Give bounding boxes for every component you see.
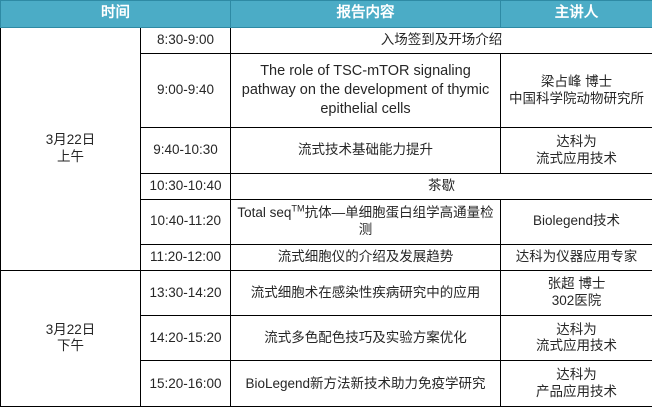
session-date: 3月22日	[46, 322, 96, 337]
row-content: Total seqTM抗体—单细胞蛋白组学高通量检测	[231, 199, 501, 244]
column-header-time: 时间	[1, 1, 231, 28]
row-time: 8:30-9:00	[141, 28, 231, 54]
row-speaker: 达科为 流式应用技术	[501, 128, 652, 173]
row-content: 入场签到及开场介绍	[231, 28, 652, 54]
row-content: 茶歇	[231, 173, 652, 199]
speaker-name: 达科为	[556, 367, 597, 382]
row-content: BioLegend新方法新技术助力免疫学研究	[231, 361, 501, 407]
column-header-speaker: 主讲人	[501, 1, 652, 28]
speaker-name: Biolegend技术	[533, 213, 620, 228]
row-content: 流式多色配色技巧及实验方案优化	[231, 316, 501, 361]
speaker-name: 达科为仪器应用专家	[516, 249, 638, 264]
session-period: 上午	[4, 149, 137, 165]
agenda-table: 时间 报告内容 主讲人 3月22日 上午 8:30-9:00 入场签到及开场介绍…	[0, 0, 652, 407]
row-time: 11:20-12:00	[141, 244, 231, 270]
speaker-affiliation: 302医院	[504, 293, 649, 309]
row-speaker: 达科为 产品应用技术	[501, 361, 652, 407]
session-label-afternoon: 3月22日 下午	[1, 270, 141, 406]
row-content-suffix: 抗体—单细胞蛋白组学高通量检测	[305, 205, 494, 236]
row-time: 9:00-9:40	[141, 53, 231, 128]
row-time: 9:40-10:30	[141, 128, 231, 173]
speaker-affiliation: 中国科学院动物研究所	[504, 91, 649, 107]
row-speaker: Biolegend技术	[501, 199, 652, 244]
session-label-morning: 3月22日 上午	[1, 28, 141, 271]
speaker-affiliation: 流式应用技术	[504, 338, 649, 354]
row-speaker: 梁占峰 博士 中国科学院动物研究所	[501, 53, 652, 128]
speaker-affiliation: 产品应用技术	[504, 384, 649, 400]
session-period: 下午	[4, 338, 137, 354]
row-time: 10:40-11:20	[141, 199, 231, 244]
column-header-content: 报告内容	[231, 1, 501, 28]
row-content-prefix: Total seq	[237, 205, 291, 220]
row-speaker: 达科为 流式应用技术	[501, 316, 652, 361]
session-date: 3月22日	[46, 132, 96, 147]
row-content: 流式技术基础能力提升	[231, 128, 501, 173]
row-time: 13:30-14:20	[141, 270, 231, 315]
row-time: 15:20-16:00	[141, 361, 231, 407]
table-row: 3月22日 下午 13:30-14:20 流式细胞术在感染性疾病研究中的应用 张…	[1, 270, 652, 315]
row-time: 10:30-10:40	[141, 173, 231, 199]
table-row: 3月22日 上午 8:30-9:00 入场签到及开场介绍	[1, 28, 652, 54]
row-speaker: 达科为仪器应用专家	[501, 244, 652, 270]
speaker-name: 达科为	[556, 134, 597, 149]
row-content: 流式细胞术在感染性疾病研究中的应用	[231, 270, 501, 315]
speaker-affiliation: 流式应用技术	[504, 151, 649, 167]
table-header: 时间 报告内容 主讲人	[1, 1, 652, 28]
speaker-name: 张超 博士	[548, 276, 606, 291]
row-time: 14:20-15:20	[141, 316, 231, 361]
speaker-name: 梁占峰 博士	[541, 74, 612, 89]
row-content: The role of TSC-mTOR signaling pathway o…	[231, 53, 501, 128]
trademark-superscript: TM	[291, 204, 304, 214]
row-content: 流式细胞仪的介绍及发展趋势	[231, 244, 501, 270]
header-row: 时间 报告内容 主讲人	[1, 1, 652, 28]
speaker-name: 达科为	[556, 322, 597, 337]
table-body: 3月22日 上午 8:30-9:00 入场签到及开场介绍 9:00-9:40 T…	[1, 28, 652, 407]
row-speaker: 张超 博士 302医院	[501, 270, 652, 315]
